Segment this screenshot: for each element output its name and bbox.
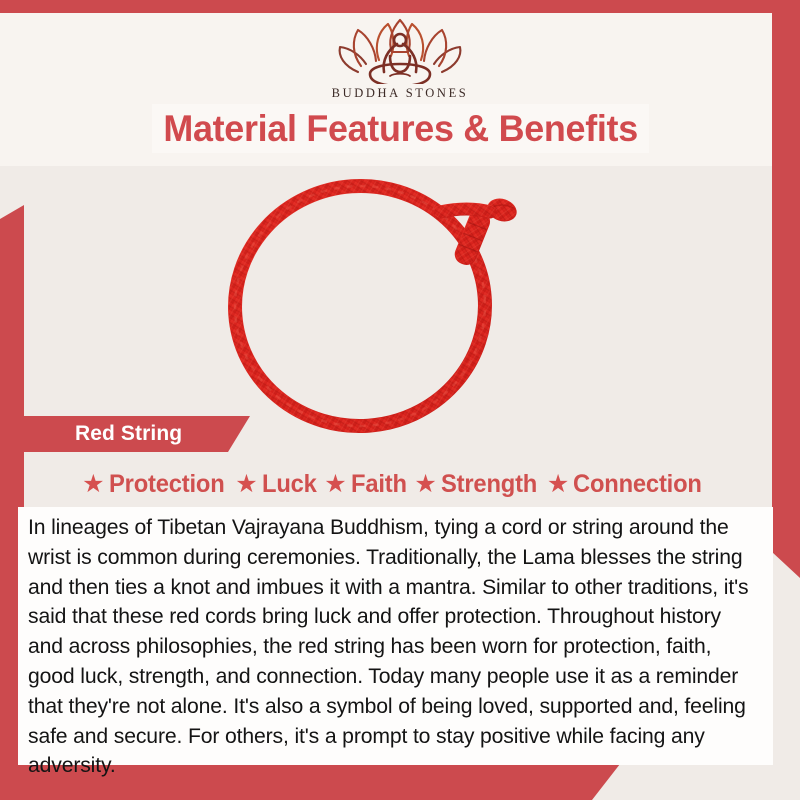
star-icon: ★: [324, 472, 346, 497]
description-panel: In lineages of Tibetan Vajrayana Buddhis…: [18, 507, 773, 765]
product-photo-red-string-bracelet: [110, 166, 690, 434]
description-text: In lineages of Tibetan Vajrayana Buddhis…: [28, 513, 756, 781]
decorative-top-band: [0, 0, 800, 13]
brand-name: BUDDHA STONES: [0, 86, 800, 101]
benefit-label: Connection: [573, 470, 702, 499]
infographic-page: BUDDHA STONES Material Features & Benefi…: [0, 0, 800, 800]
star-icon: ★: [414, 472, 436, 497]
star-icon: ★: [547, 472, 569, 497]
benefit-label: Strength: [441, 470, 537, 499]
product-label-text: Red String: [75, 422, 182, 446]
page-title: Material Features & Benefits: [163, 108, 638, 150]
benefits-row: ★ Protection ★ Luck ★ Faith ★ Strength ★…: [18, 464, 773, 504]
benefit-item-protection: ★ Protection: [82, 470, 230, 499]
benefit-label: Faith: [351, 470, 407, 499]
benefit-label: Protection: [109, 470, 225, 499]
star-icon: ★: [82, 472, 104, 497]
benefit-item-luck: ★ Luck: [235, 470, 319, 499]
lotus-meditation-figure-icon: [334, 16, 466, 84]
brand-logo: BUDDHA STONES: [0, 16, 800, 101]
benefit-item-faith: ★ Faith: [324, 470, 409, 499]
benefit-item-strength: ★ Strength: [414, 470, 542, 499]
headline-plaque: Material Features & Benefits: [152, 104, 649, 153]
star-icon: ★: [235, 472, 257, 497]
benefit-item-connection: ★ Connection: [547, 470, 709, 499]
product-label-ribbon: Red String: [18, 416, 250, 452]
benefit-label: Luck: [262, 470, 317, 499]
